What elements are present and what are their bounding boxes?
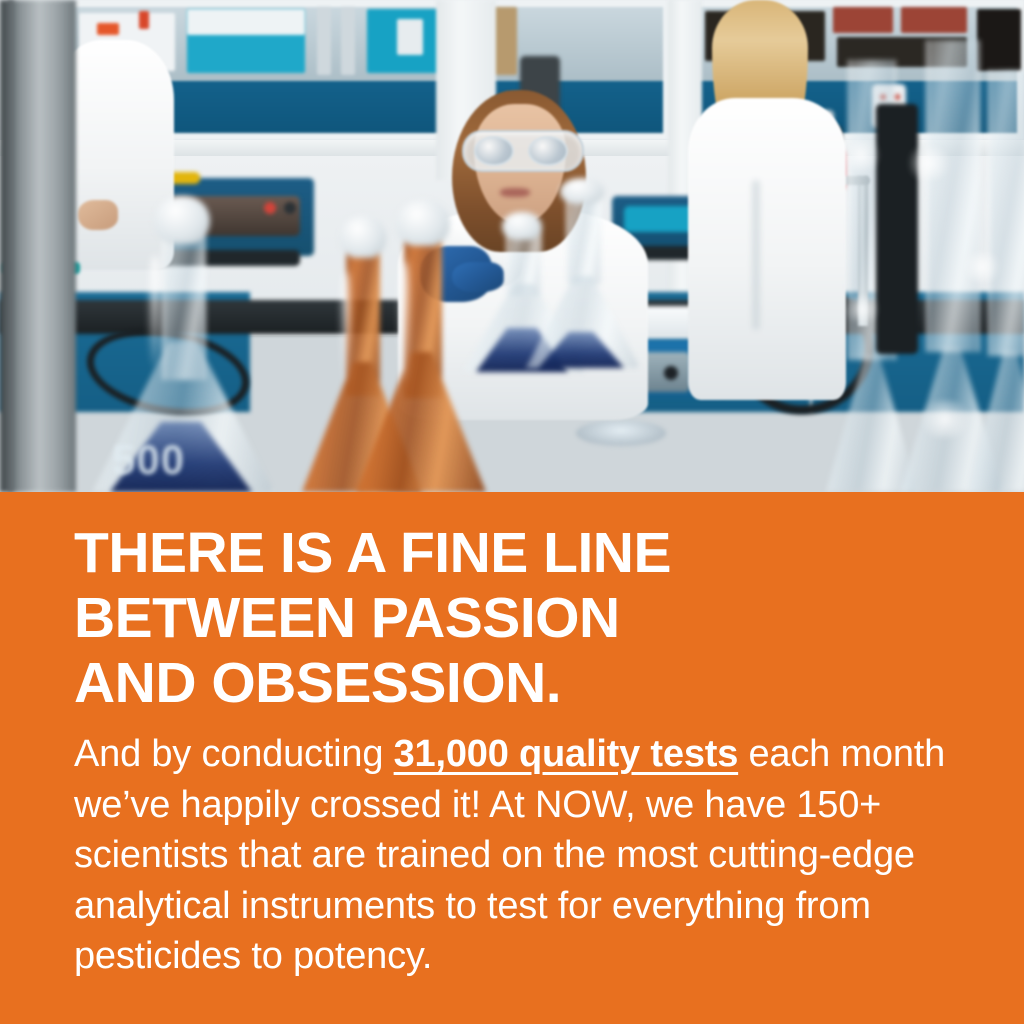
structural-post-edge	[0, 0, 14, 492]
social-graphic: 500	[0, 0, 1024, 1024]
goggle-lens-left	[474, 136, 514, 166]
flask-neck	[988, 70, 1024, 356]
orange-text-panel: THERE IS A FINE LINE BETWEEN PASSION AND…	[0, 492, 1024, 1024]
glass-highlight	[400, 262, 409, 382]
flask-center-tall	[526, 178, 636, 368]
bokeh-highlight	[960, 252, 1004, 282]
cabinet-contents	[317, 7, 331, 75]
lab-coat-right	[688, 98, 846, 400]
cabinet-contents	[97, 23, 119, 35]
headline: THERE IS A FINE LINE BETWEEN PASSION AND…	[74, 521, 934, 716]
cabinet-contents	[139, 11, 149, 29]
body-copy: And by conducting 31,000 quality tests e…	[74, 729, 954, 982]
bokeh-highlight	[904, 146, 954, 180]
bokeh-highlight	[842, 296, 882, 322]
structural-post	[8, 0, 76, 492]
flask-stopper	[560, 178, 604, 204]
flask-body	[968, 352, 1024, 492]
bokeh-highlight	[838, 140, 884, 170]
cabinet-contents	[397, 19, 423, 55]
body-before: And by conducting	[74, 733, 394, 775]
cabinet-contents	[341, 7, 355, 75]
flask-body	[356, 352, 486, 492]
instrument-knob	[284, 202, 296, 214]
cabinet-contents	[833, 7, 893, 33]
dark-shelf-right	[876, 104, 918, 354]
flask-stopper	[154, 196, 210, 244]
goggle-lens-right	[528, 136, 568, 166]
coat-fold	[752, 180, 760, 330]
balance-knob	[664, 366, 678, 380]
cabinet-contents	[901, 7, 967, 33]
lab-photo: 500	[0, 0, 1024, 492]
petri-dish	[576, 420, 666, 446]
glass-highlight	[342, 272, 350, 382]
flask-stopper	[396, 200, 450, 246]
flask-volume-label: 500	[112, 436, 185, 484]
cabinet-contents	[187, 9, 305, 35]
glass-highlight	[150, 256, 160, 366]
body-emphasis: 31,000 quality tests	[394, 733, 739, 775]
bokeh-highlight	[916, 400, 974, 438]
